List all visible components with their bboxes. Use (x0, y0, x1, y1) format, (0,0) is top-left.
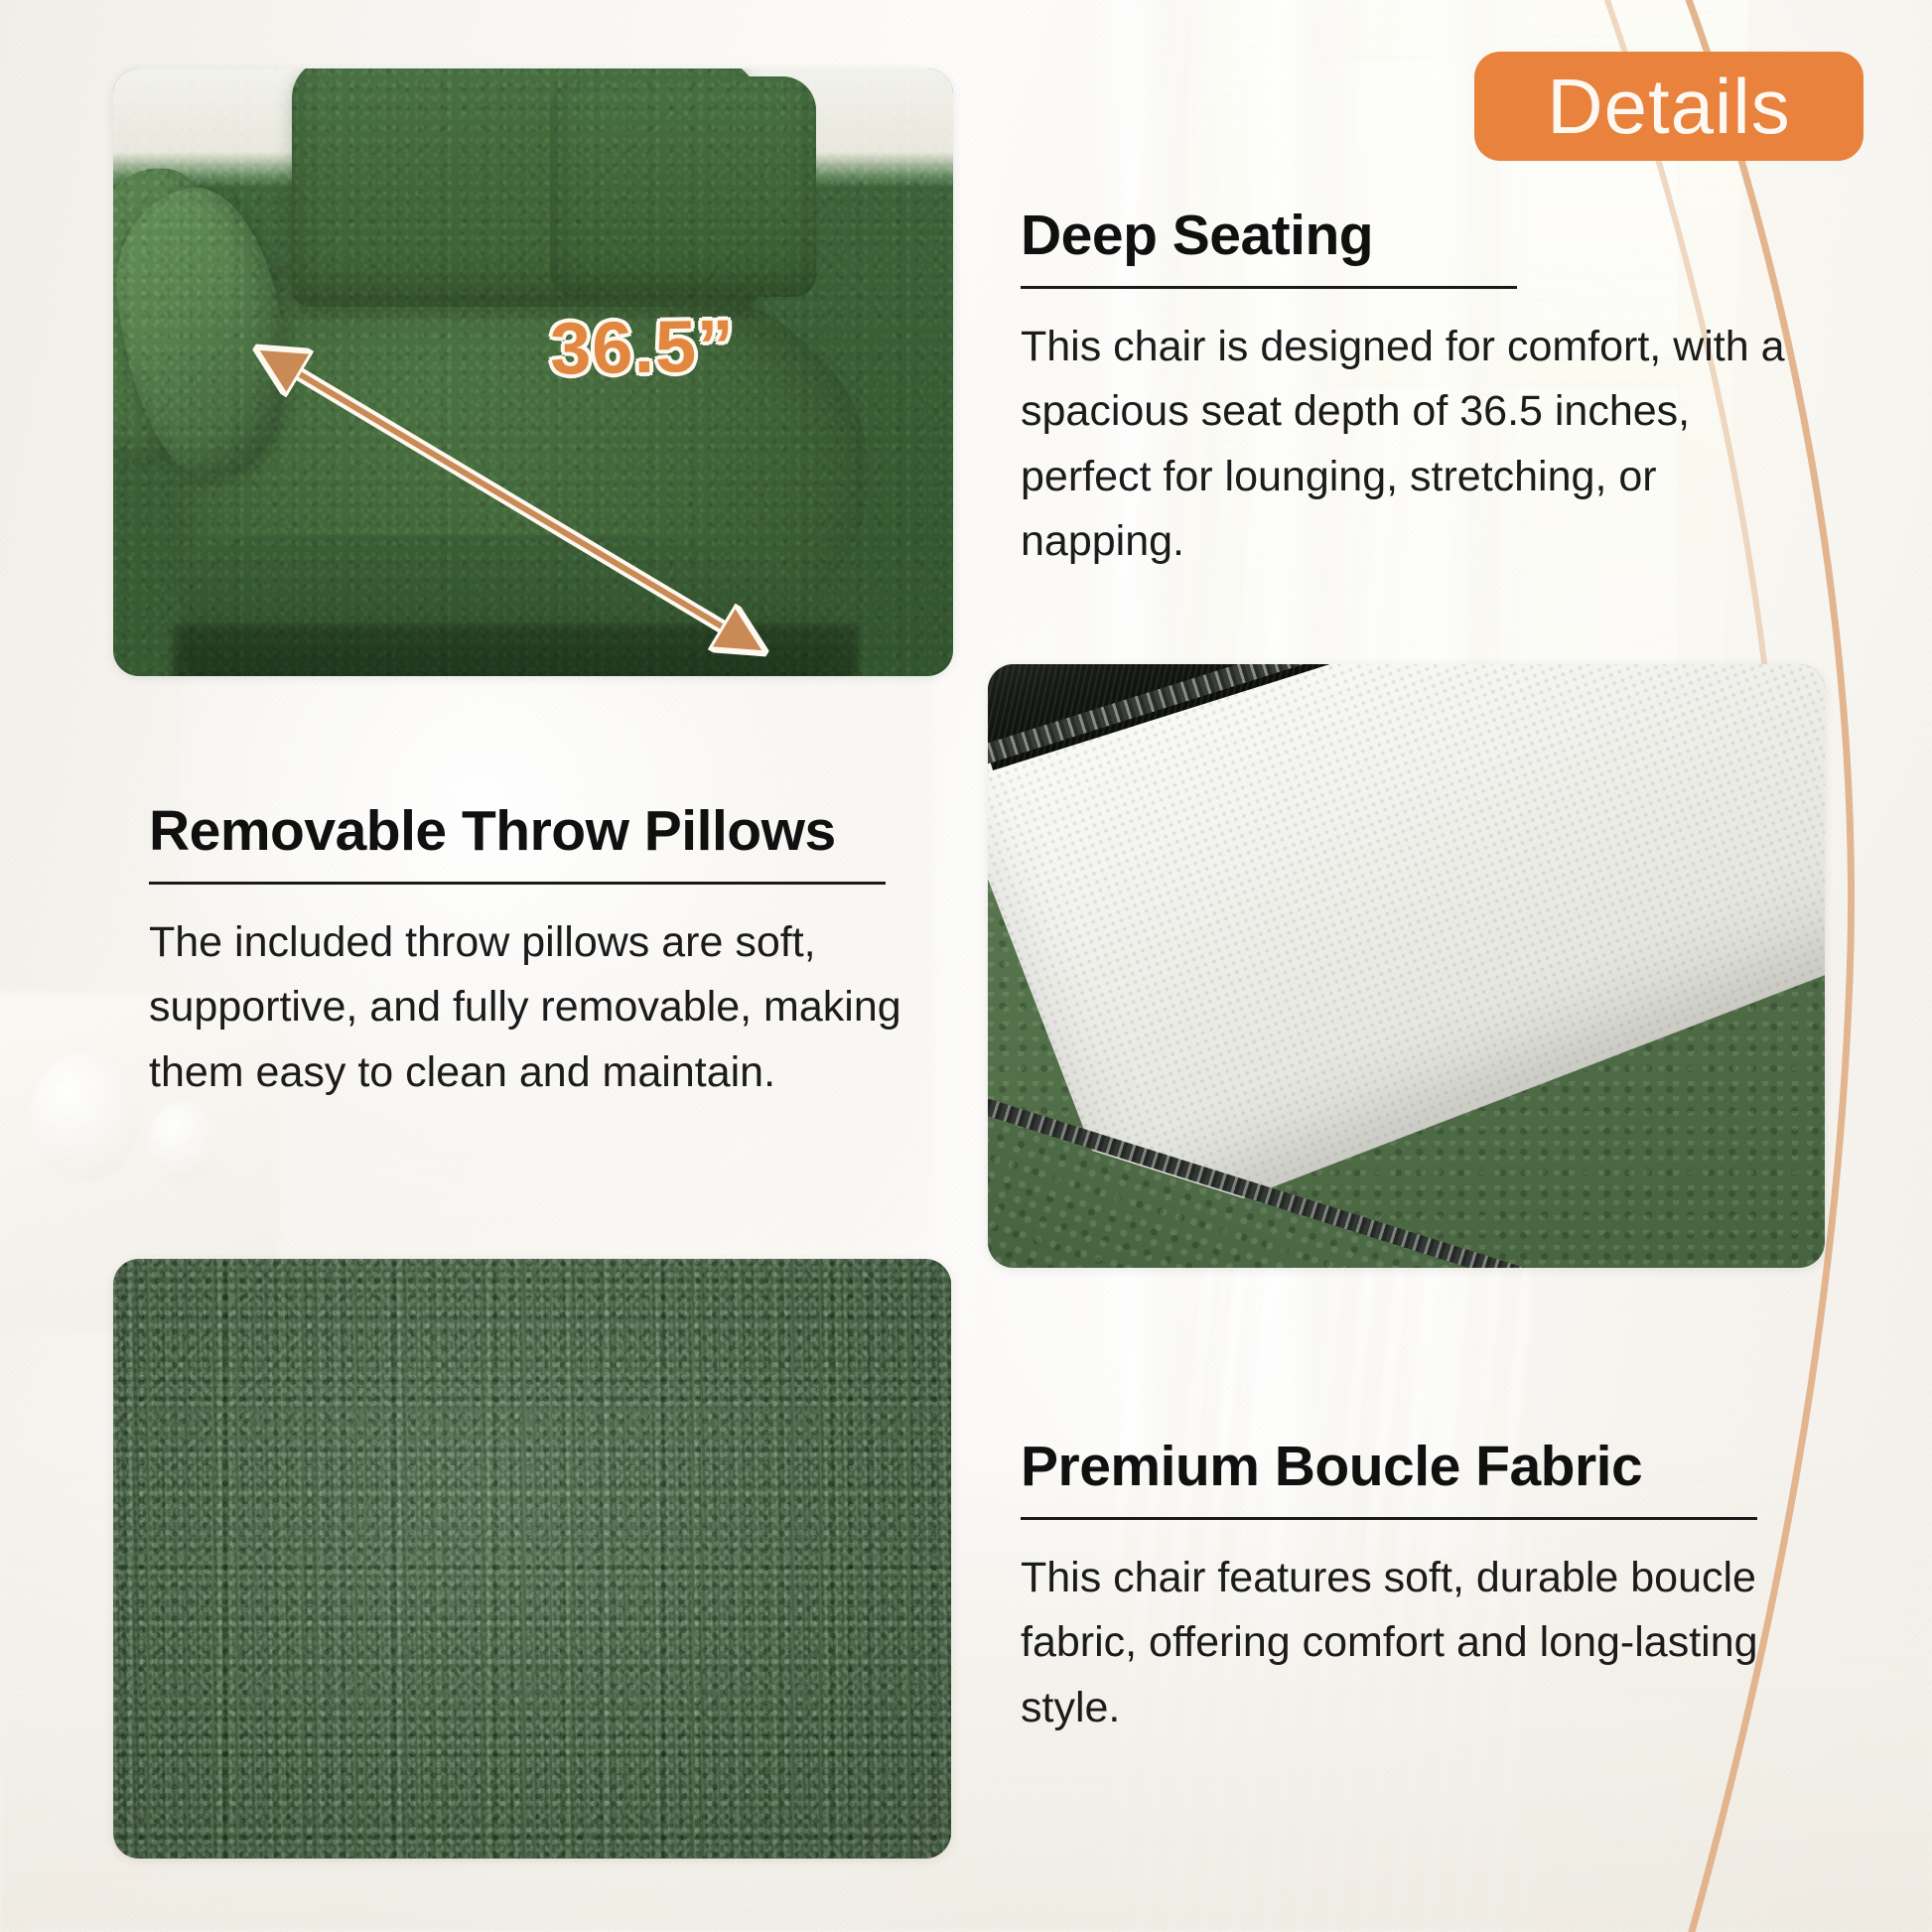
section-deep-seating: Deep Seating This chair is designed for … (1021, 207, 1815, 574)
background-bowl (149, 1102, 218, 1181)
photo-fabric-swatch (113, 1259, 951, 1859)
swatch-vignette (113, 1259, 951, 1859)
section-throw-pillows: Removable Throw Pillows The included thr… (149, 802, 933, 1105)
photo-deep-seating: 36.5” (113, 69, 953, 676)
section-divider (1021, 1517, 1757, 1520)
dimension-arrow-icon (113, 69, 953, 676)
details-badge: Details (1474, 52, 1863, 161)
dimension-label: 36.5” (549, 303, 735, 390)
section-body-text: This chair is designed for comfort, with… (1021, 315, 1815, 574)
section-body-text: This chair features soft, durable boucle… (1021, 1546, 1805, 1740)
section-divider (149, 882, 886, 885)
section-divider (1021, 286, 1517, 289)
background-vase (30, 1052, 139, 1181)
section-body-text: The included throw pillows are soft, sup… (149, 910, 933, 1105)
section-title-throw-pillows: Removable Throw Pillows (149, 802, 933, 862)
details-badge-label: Details (1547, 68, 1790, 145)
product-detail-page: Details 36.5” (0, 0, 1932, 1932)
section-title-deep-seating: Deep Seating (1021, 207, 1815, 266)
section-body-throw-pillows: The included throw pillows are soft, sup… (149, 910, 933, 1105)
section-title-boucle-fabric: Premium Boucle Fabric (1021, 1438, 1805, 1497)
section-body-boucle-fabric: This chair features soft, durable boucle… (1021, 1546, 1805, 1740)
photo-zipper-detail (988, 664, 1825, 1268)
section-boucle-fabric: Premium Boucle Fabric This chair feature… (1021, 1438, 1805, 1740)
section-body-deep-seating: This chair is designed for comfort, with… (1021, 315, 1815, 574)
